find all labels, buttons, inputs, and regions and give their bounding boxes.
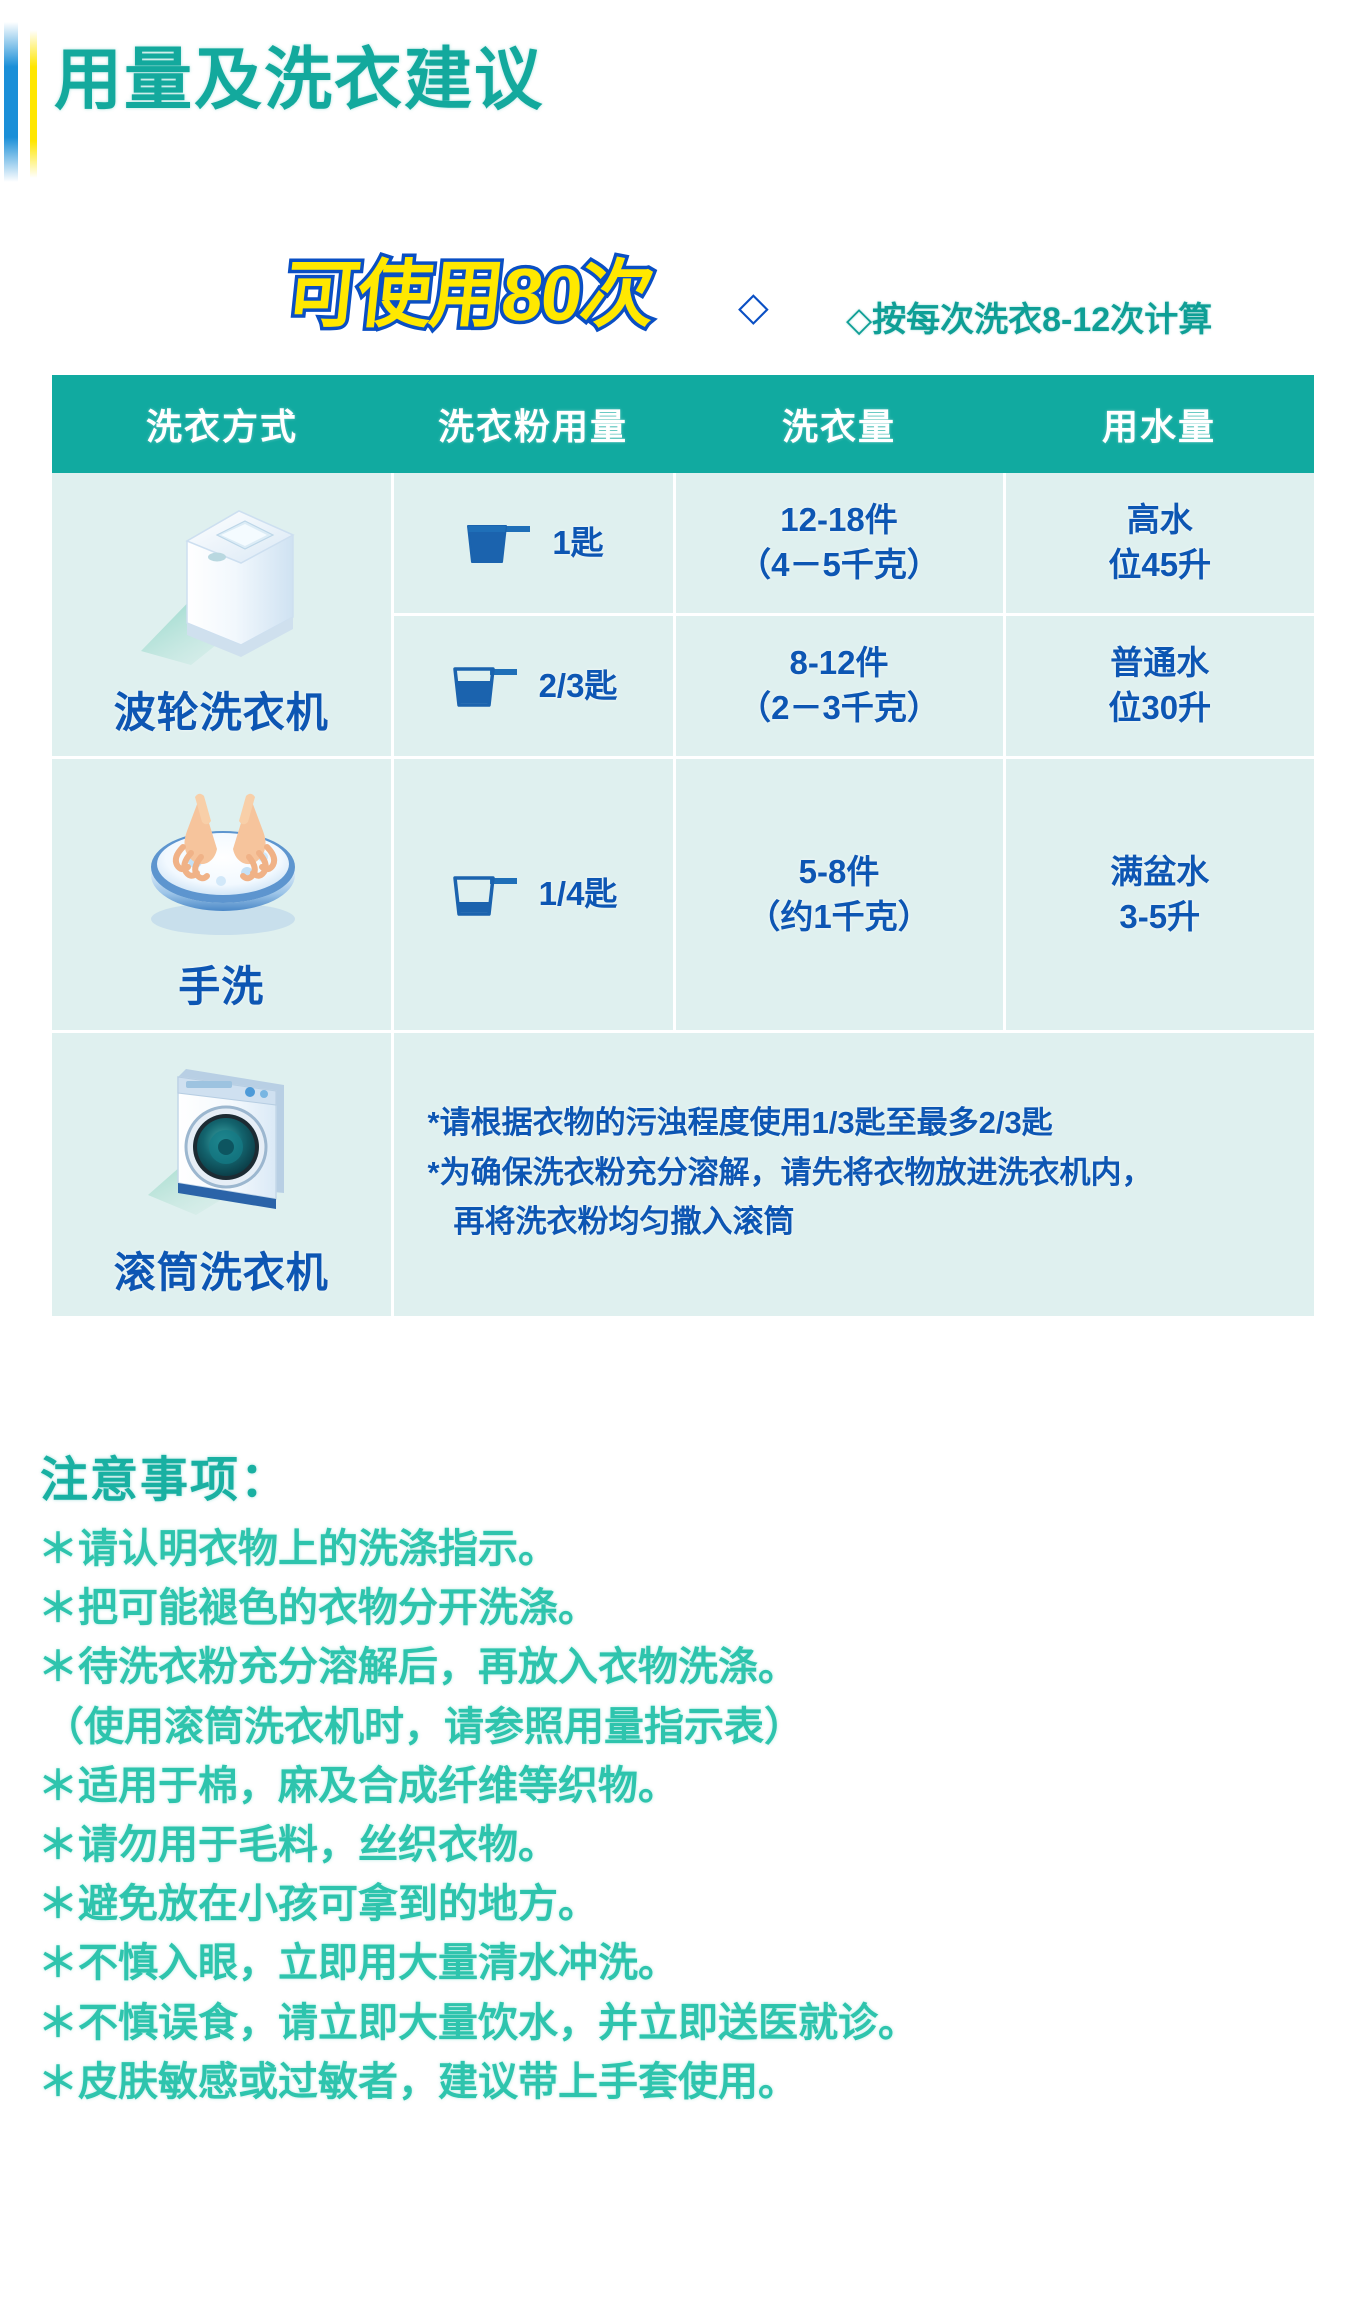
column-header-water: 用水量 bbox=[1004, 375, 1314, 473]
page-title: 用量及洗衣建议 bbox=[54, 46, 544, 114]
drum-note-line-2: *为确保洗衣粉充分溶解，请先将衣物放进洗衣机内， bbox=[428, 1148, 1297, 1198]
load-cell: 8-12件 （2－3千克） bbox=[674, 614, 1004, 757]
caution-item: ＊请勿用于毛料，丝织衣物。 bbox=[38, 1816, 1318, 1875]
drum-washer-icon bbox=[126, 1043, 316, 1233]
dosage-cell: 1/4匙 bbox=[392, 758, 674, 1032]
caution-item: ＊适用于棉，麻及合成纤维等织物。 bbox=[38, 1757, 1318, 1816]
water-line-1: 满盆水 bbox=[1006, 850, 1315, 895]
dosage-amount: 1/4匙 bbox=[539, 872, 618, 917]
drum-usage-notes: *请根据衣物的污浊程度使用1/3匙至最多2/3匙 *为确保洗衣粉充分溶解，请先将… bbox=[392, 1032, 1314, 1317]
dosage-amount: 1匙 bbox=[552, 521, 603, 566]
load-line-2: （2－3千克） bbox=[676, 686, 1003, 731]
water-line-2: 位30升 bbox=[1006, 686, 1315, 731]
table-header-row: 洗衣方式 洗衣粉用量 洗衣量 用水量 bbox=[52, 375, 1314, 473]
water-line-1: 高水 bbox=[1006, 498, 1315, 543]
water-cell: 高水 位45升 bbox=[1004, 473, 1314, 614]
caution-item: ＊避免放在小孩可拿到的地方。 bbox=[38, 1875, 1318, 1934]
water-line-2: 3-5升 bbox=[1006, 895, 1315, 940]
dosage-cell: 2/3匙 bbox=[392, 614, 674, 757]
scoop-full-icon bbox=[462, 516, 536, 570]
column-header-dosage: 洗衣粉用量 bbox=[392, 375, 674, 473]
method-cell-hand-wash: 手洗 bbox=[52, 758, 392, 1032]
banner-footnote: ◇按每次洗衣8-12次计算 bbox=[846, 292, 1212, 341]
caution-item: ＊把可能褪色的衣物分开洗涤。 bbox=[38, 1579, 1318, 1638]
table-row: 滚筒洗衣机 *请根据衣物的污浊程度使用1/3匙至最多2/3匙 *为确保洗衣粉充分… bbox=[52, 1032, 1314, 1317]
cautions-list: ＊请认明衣物上的洗涤指示。 ＊把可能褪色的衣物分开洗涤。 ＊待洗衣粉充分溶解后，… bbox=[38, 1520, 1318, 2112]
drum-note-line-3: 再将洗衣粉均匀撒入滚筒 bbox=[428, 1197, 1297, 1247]
usage-count-banner: 可使用80次 ◇ ◇按每次洗衣8-12次计算 bbox=[286, 258, 1326, 350]
water-cell: 满盆水 3-5升 bbox=[1004, 758, 1314, 1032]
method-label: 波轮洗衣机 bbox=[52, 679, 391, 740]
scoop-two-thirds-icon bbox=[449, 659, 523, 713]
method-label: 手洗 bbox=[52, 953, 391, 1014]
load-cell: 12-18件 （4－5千克） bbox=[674, 473, 1004, 614]
usage-table: 洗衣方式 洗衣粉用量 洗衣量 用水量 bbox=[52, 375, 1314, 1316]
caution-item: ＊待洗衣粉充分溶解后，再放入衣物洗涤。 bbox=[38, 1638, 1318, 1697]
load-line-1: 8-12件 bbox=[676, 641, 1003, 686]
caution-item: ＊请认明衣物上的洗涤指示。 bbox=[38, 1520, 1318, 1579]
hand-wash-basin-icon bbox=[121, 769, 321, 947]
load-line-1: 5-8件 bbox=[676, 850, 1003, 895]
load-cell: 5-8件 （约1千克） bbox=[674, 758, 1004, 1032]
water-cell: 普通水 位30升 bbox=[1004, 614, 1314, 757]
load-line-2: （4－5千克） bbox=[676, 543, 1003, 588]
load-line-1: 12-18件 bbox=[676, 498, 1003, 543]
drum-note-line-1: *请根据衣物的污浊程度使用1/3匙至最多2/3匙 bbox=[428, 1098, 1297, 1148]
caution-item: ＊不慎入眼，立即用大量清水冲洗。 bbox=[38, 1934, 1318, 1993]
caution-item: ＊不慎误食，请立即大量饮水，并立即送医就诊。 bbox=[38, 1994, 1318, 2053]
method-label: 滚筒洗衣机 bbox=[52, 1239, 391, 1300]
cautions-heading: 注意事项： bbox=[40, 1440, 290, 1510]
banner-headline: 可使用80次 bbox=[282, 258, 656, 332]
dosage-cell: 1匙 bbox=[392, 473, 674, 614]
dosage-amount: 2/3匙 bbox=[539, 664, 618, 709]
top-load-washer-icon bbox=[121, 483, 321, 673]
table-row: 波轮洗衣机 1匙 12-18件 （4－5千克） 高水 位45升 bbox=[52, 473, 1314, 614]
method-cell-top-load: 波轮洗衣机 bbox=[52, 473, 392, 758]
caution-item: （使用滚筒洗衣机时，请参照用量指示表） bbox=[38, 1698, 1318, 1757]
accent-bar-blue bbox=[4, 22, 18, 182]
scoop-quarter-icon bbox=[449, 868, 523, 922]
banner-diamond-marker: ◇ bbox=[738, 284, 769, 330]
column-header-method: 洗衣方式 bbox=[52, 375, 392, 473]
caution-item: ＊皮肤敏感或过敏者，建议带上手套使用。 bbox=[38, 2053, 1318, 2112]
table-row: 手洗 1/4匙 5-8件 （约1千克） 满盆水 3-5升 bbox=[52, 758, 1314, 1032]
method-cell-drum: 滚筒洗衣机 bbox=[52, 1032, 392, 1317]
water-line-1: 普通水 bbox=[1006, 641, 1315, 686]
load-line-2: （约1千克） bbox=[676, 895, 1003, 940]
accent-bar-yellow bbox=[30, 30, 37, 178]
water-line-2: 位45升 bbox=[1006, 543, 1315, 588]
column-header-load: 洗衣量 bbox=[674, 375, 1004, 473]
